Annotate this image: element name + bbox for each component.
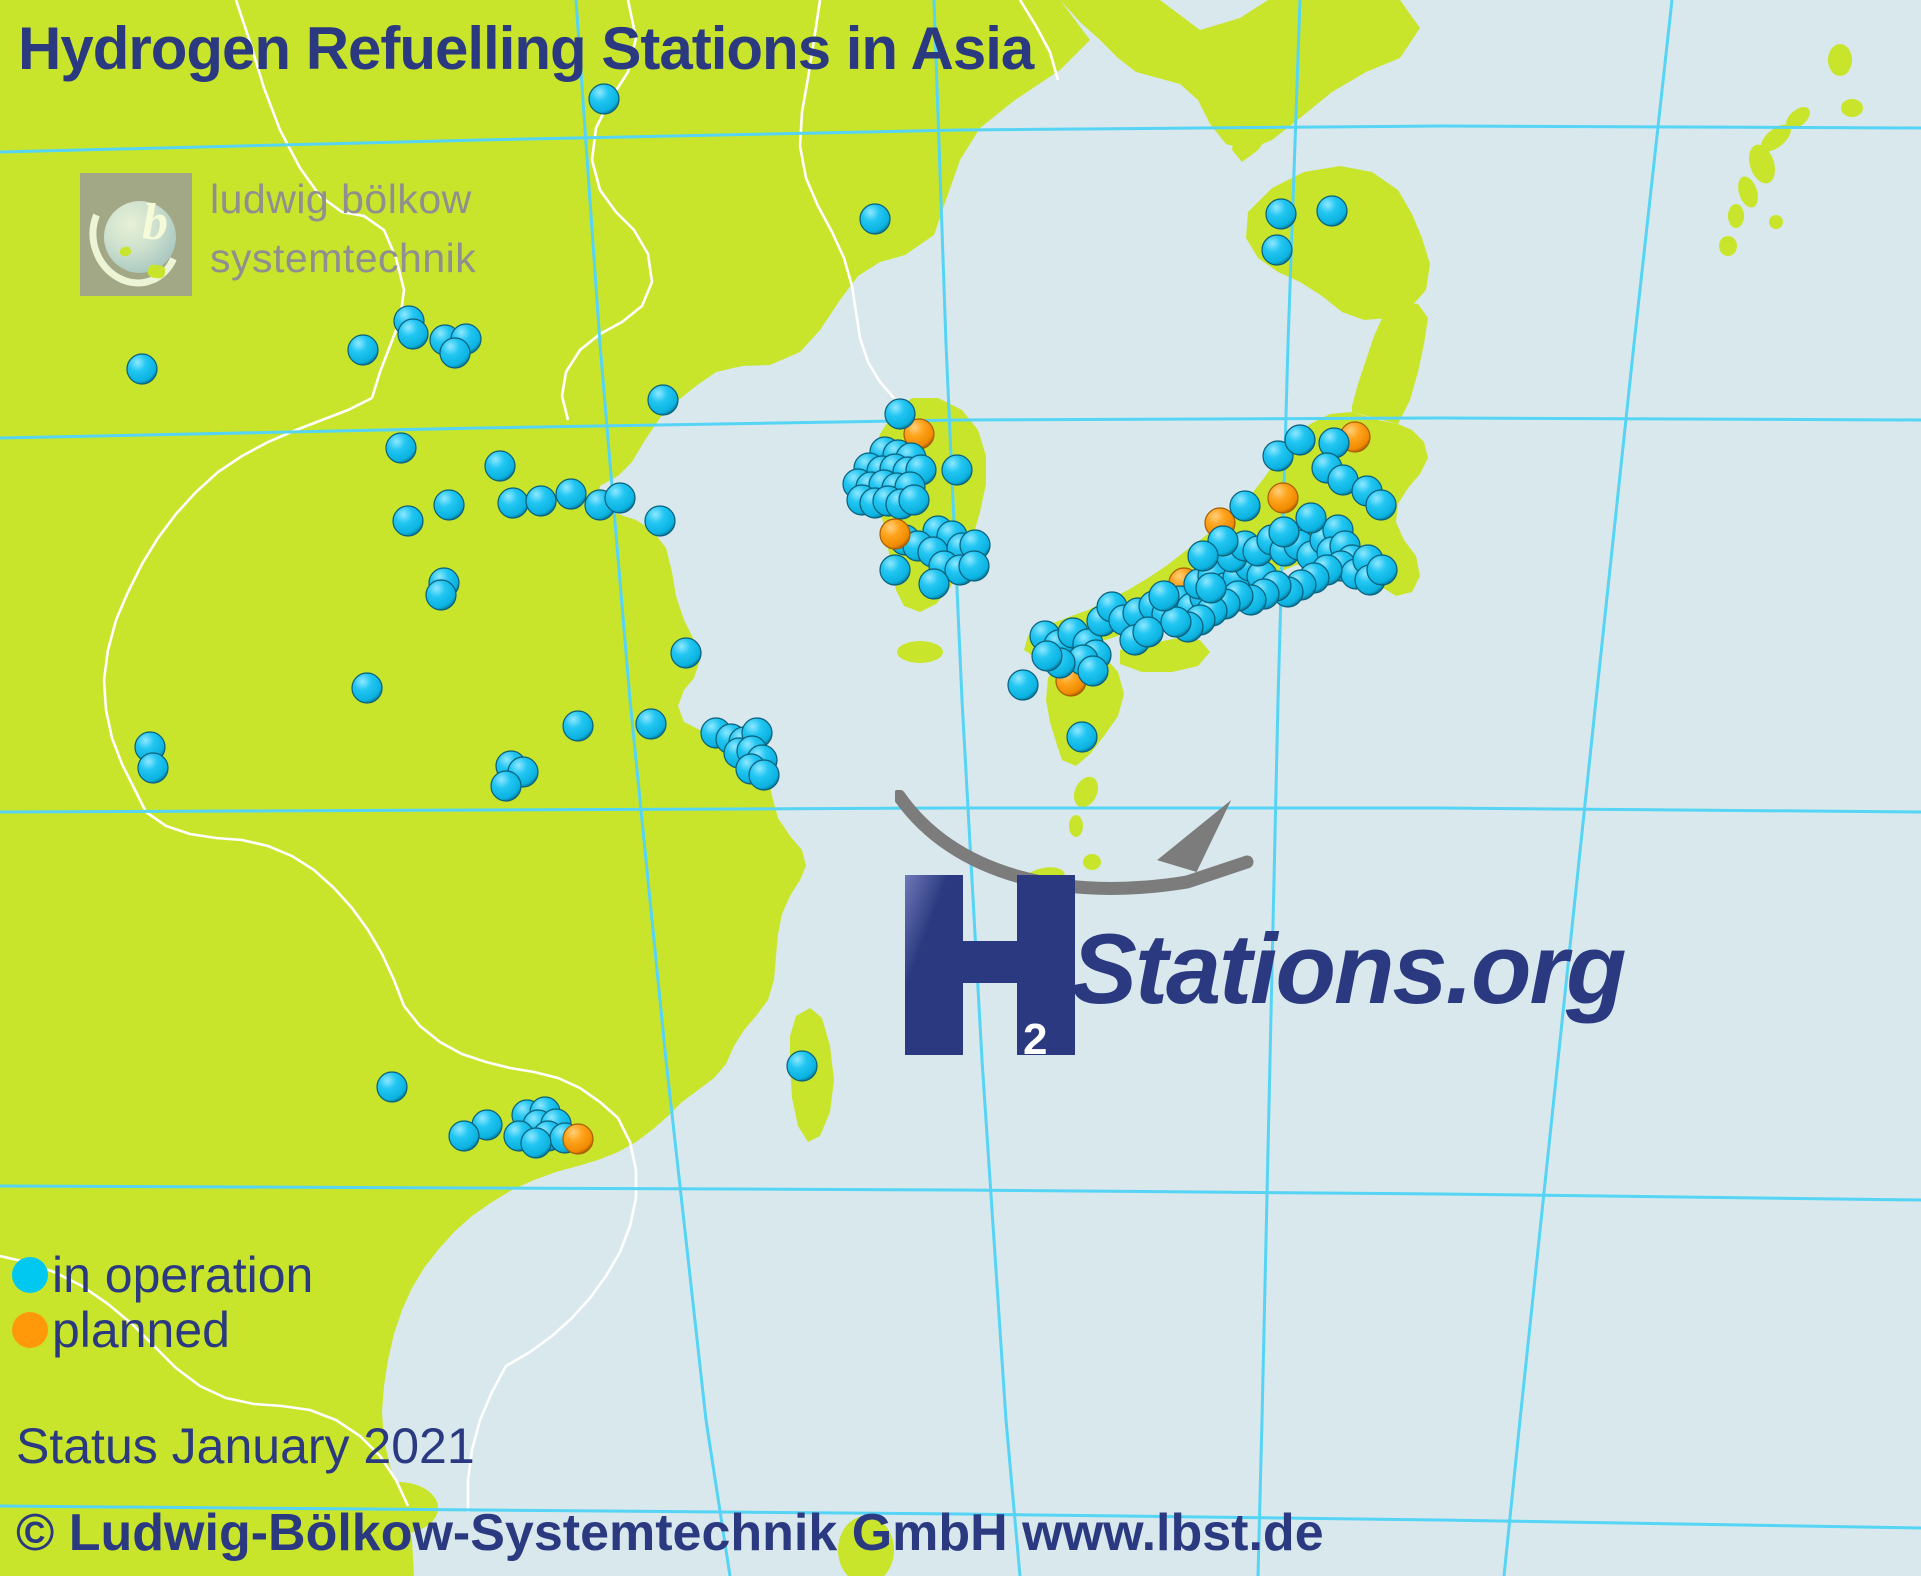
station-marker-in-operation[interactable] bbox=[393, 506, 423, 536]
station-marker-in-operation[interactable] bbox=[352, 673, 382, 703]
legend-label-in-operation: in operation bbox=[52, 1250, 313, 1300]
station-marker-in-operation[interactable] bbox=[645, 506, 675, 536]
h2stations-wordmark: Stations.org bbox=[1071, 912, 1625, 1026]
legend-dot-planned-icon bbox=[12, 1312, 48, 1348]
lbst-logo-line1: ludwig bölkow bbox=[210, 176, 472, 223]
station-marker-in-operation[interactable] bbox=[485, 451, 515, 481]
station-marker-in-operation[interactable] bbox=[1188, 541, 1218, 571]
station-marker-in-operation[interactable] bbox=[1008, 670, 1038, 700]
station-marker-in-operation[interactable] bbox=[563, 711, 593, 741]
station-marker-in-operation[interactable] bbox=[1067, 722, 1097, 752]
station-marker-in-operation[interactable] bbox=[386, 433, 416, 463]
station-marker-in-operation[interactable] bbox=[1078, 656, 1108, 686]
station-marker-planned[interactable] bbox=[880, 519, 910, 549]
station-marker-in-operation[interactable] bbox=[942, 455, 972, 485]
map-canvas: Hydrogen Refuelling Stations in Asia b l… bbox=[0, 0, 1921, 1576]
station-marker-in-operation[interactable] bbox=[1367, 555, 1397, 585]
station-marker-in-operation[interactable] bbox=[749, 760, 779, 790]
station-marker-in-operation[interactable] bbox=[959, 551, 989, 581]
page-title: Hydrogen Refuelling Stations in Asia bbox=[18, 14, 1033, 83]
globe-landmass-2-icon bbox=[147, 264, 166, 279]
copyright-text: © Ludwig-Bölkow-Systemtechnik GmbH www.l… bbox=[16, 1503, 1324, 1563]
station-marker-in-operation[interactable] bbox=[899, 485, 929, 515]
station-marker-in-operation[interactable] bbox=[1032, 641, 1062, 671]
station-marker-in-operation[interactable] bbox=[1317, 196, 1347, 226]
station-marker-in-operation[interactable] bbox=[556, 479, 586, 509]
legend-item-in-operation[interactable]: in operation bbox=[12, 1247, 442, 1302]
lbst-logo-line2: systemtechnik bbox=[210, 235, 476, 282]
map-legend: in operation planned bbox=[12, 1247, 442, 1357]
station-marker-in-operation[interactable] bbox=[491, 771, 521, 801]
station-marker-in-operation[interactable] bbox=[498, 488, 528, 518]
legend-item-planned[interactable]: planned bbox=[12, 1302, 442, 1357]
station-marker-in-operation[interactable] bbox=[138, 753, 168, 783]
station-marker-in-operation[interactable] bbox=[605, 483, 635, 513]
station-marker-planned[interactable] bbox=[1268, 483, 1298, 513]
station-marker-in-operation[interactable] bbox=[127, 354, 157, 384]
station-marker-in-operation[interactable] bbox=[426, 580, 456, 610]
station-marker-in-operation[interactable] bbox=[671, 638, 701, 668]
station-marker-in-operation[interactable] bbox=[521, 1128, 551, 1158]
station-marker-in-operation[interactable] bbox=[434, 490, 464, 520]
station-marker-in-operation[interactable] bbox=[589, 84, 619, 114]
station-marker-in-operation[interactable] bbox=[1149, 581, 1179, 611]
status-text: Status January 2021 bbox=[16, 1417, 475, 1475]
station-marker-in-operation[interactable] bbox=[885, 399, 915, 429]
station-marker-in-operation[interactable] bbox=[1262, 235, 1292, 265]
station-marker-in-operation[interactable] bbox=[648, 385, 678, 415]
station-marker-in-operation[interactable] bbox=[526, 486, 556, 516]
station-marker-in-operation[interactable] bbox=[440, 338, 470, 368]
h2-subscript: 2 bbox=[1023, 1015, 1047, 1065]
station-marker-in-operation[interactable] bbox=[1196, 573, 1226, 603]
station-marker-in-operation[interactable] bbox=[377, 1072, 407, 1102]
station-marker-in-operation[interactable] bbox=[1133, 617, 1163, 647]
station-marker-in-operation[interactable] bbox=[919, 569, 949, 599]
station-marker-in-operation[interactable] bbox=[860, 204, 890, 234]
legend-label-planned: planned bbox=[52, 1305, 230, 1355]
legend-dot-in-operation-icon bbox=[12, 1257, 48, 1293]
station-marker-in-operation[interactable] bbox=[1366, 490, 1396, 520]
station-marker-in-operation[interactable] bbox=[348, 335, 378, 365]
station-marker-in-operation[interactable] bbox=[449, 1121, 479, 1151]
lbst-logo: b ludwig bölkow systemtechnik bbox=[80, 173, 510, 303]
crescent-icon bbox=[76, 175, 195, 300]
station-marker-planned[interactable] bbox=[563, 1124, 593, 1154]
lbst-logo-mark: b bbox=[80, 173, 192, 296]
station-marker-in-operation[interactable] bbox=[880, 555, 910, 585]
station-marker-in-operation[interactable] bbox=[1266, 199, 1296, 229]
h2stations-brand[interactable]: 2 Stations.org bbox=[895, 790, 1915, 1055]
station-marker-in-operation[interactable] bbox=[1296, 503, 1326, 533]
station-marker-in-operation[interactable] bbox=[398, 319, 428, 349]
station-marker-in-operation[interactable] bbox=[787, 1051, 817, 1081]
station-marker-in-operation[interactable] bbox=[636, 709, 666, 739]
land-jeju bbox=[897, 641, 943, 663]
station-marker-in-operation[interactable] bbox=[1285, 425, 1315, 455]
station-marker-in-operation[interactable] bbox=[1230, 491, 1260, 521]
station-marker-in-operation[interactable] bbox=[1269, 517, 1299, 547]
lbst-b-letter: b bbox=[142, 193, 168, 252]
